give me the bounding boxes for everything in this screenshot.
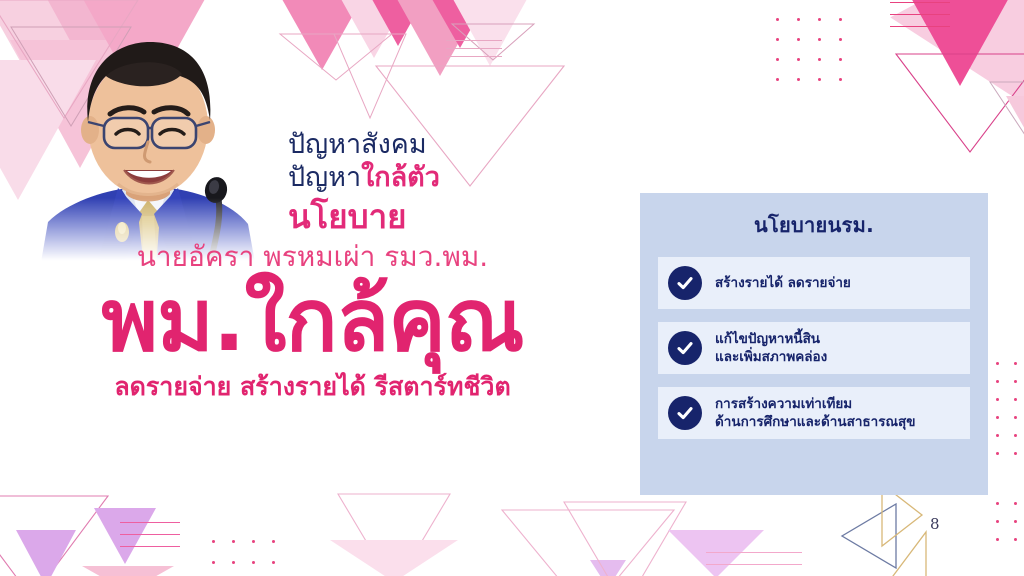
- deco-line: [890, 2, 950, 3]
- headline-line-2: ปัญหาใกล้ตัว: [0, 161, 625, 194]
- deco-triangle-down: [590, 560, 626, 576]
- policy-item[interactable]: แก้ไขปัญหาหนี้สิน และเพิ่มสภาพคล่อง: [658, 322, 970, 374]
- deco-line: [446, 56, 502, 57]
- deco-line: [120, 534, 180, 535]
- deco-triangle-outline: [276, 4, 396, 84]
- deco-triangle-down: [1006, 96, 1024, 138]
- deco-triangle-down: [890, 0, 1024, 86]
- check-circle-icon: [668, 396, 702, 430]
- deco-line: [120, 546, 180, 547]
- deco-line: [446, 48, 502, 49]
- headline-line-1: ปัญหาสังคม: [0, 128, 625, 161]
- slide-main-title: พม.ใกล้คุณ: [0, 273, 625, 369]
- deco-dot-grid: [212, 540, 292, 576]
- deco-triangle-left-outline: [838, 500, 900, 572]
- deco-triangle-down: [94, 508, 156, 564]
- deco-line: [706, 552, 802, 553]
- deco-triangle-left-outline: [880, 530, 930, 576]
- deco-triangle-down: [330, 540, 458, 576]
- deco-triangle-outline: [330, 4, 410, 124]
- deco-triangle-outline: [560, 498, 690, 576]
- check-circle-icon: [668, 266, 702, 300]
- deco-triangle-down: [82, 566, 174, 576]
- deco-triangle-down: [668, 530, 764, 576]
- policy-item[interactable]: การสร้างความเท่าเทียม ด้านการศึกษาและด้า…: [658, 387, 970, 439]
- deco-triangle-outline: [334, 490, 454, 576]
- deco-triangle-outline: [448, 4, 538, 64]
- policy-item-label: สร้างรายได้ ลดรายจ่าย: [715, 274, 851, 292]
- policy-item-label: แก้ไขปัญหาหนี้สิน และเพิ่มสภาพคล่อง: [715, 330, 827, 366]
- deco-line: [890, 14, 950, 15]
- deco-line: [120, 522, 180, 523]
- deco-triangle-outline: [986, 78, 1024, 148]
- headline-line-2-plain: ปัญหา: [288, 162, 361, 193]
- deco-triangle-down: [392, 0, 488, 76]
- policy-item-label: การสร้างความเท่าเทียม ด้านการศึกษาและด้า…: [715, 395, 916, 431]
- policy-panel: นโยบายนรม. สร้างรายได้ ลดรายจ่าย แก้ไขปั…: [640, 193, 988, 495]
- minister-name: นายอัครา พรหมเผ่า รมว.พม.: [0, 239, 625, 275]
- headline-line-2-accent: ใกล้ตัว: [361, 162, 440, 193]
- deco-line: [890, 26, 950, 27]
- policy-item[interactable]: สร้างรายได้ ลดรายจ่าย: [658, 257, 970, 309]
- deco-triangle-down: [278, 0, 366, 70]
- deco-triangle-outline: [890, 48, 1024, 158]
- deco-triangle-down: [428, 0, 492, 48]
- deco-dot-grid: [776, 18, 866, 92]
- deco-triangle-down: [16, 530, 76, 576]
- deco-triangle-down: [890, 0, 1024, 157]
- page-number: 8: [930, 515, 940, 533]
- presentation-slide: ปัญหาสังคม ปัญหาใกล้ตัว นโยบาย นายอัครา …: [0, 0, 1024, 576]
- check-circle-icon: [668, 331, 702, 365]
- deco-triangle-down: [448, 0, 532, 66]
- deco-triangle-down: [368, 0, 428, 46]
- deco-triangle-outline: [498, 506, 678, 576]
- headline-block: ปัญหาสังคม ปัญหาใกล้ตัว นโยบาย นายอัครา …: [0, 128, 625, 403]
- deco-line: [446, 40, 502, 41]
- slide-tagline: ลดรายจ่าย สร้างรายได้ รีสตาร์ทชีวิต: [0, 371, 625, 403]
- deco-line: [706, 564, 802, 565]
- deco-triangle-outline: [0, 492, 112, 576]
- deco-dot-grid: [996, 362, 1024, 482]
- headline-policy-word: นโยบาย: [0, 196, 625, 238]
- deco-dot-grid: [996, 502, 1024, 572]
- policy-panel-title: นโยบายนรม.: [640, 193, 988, 241]
- deco-triangle-down: [336, 0, 412, 58]
